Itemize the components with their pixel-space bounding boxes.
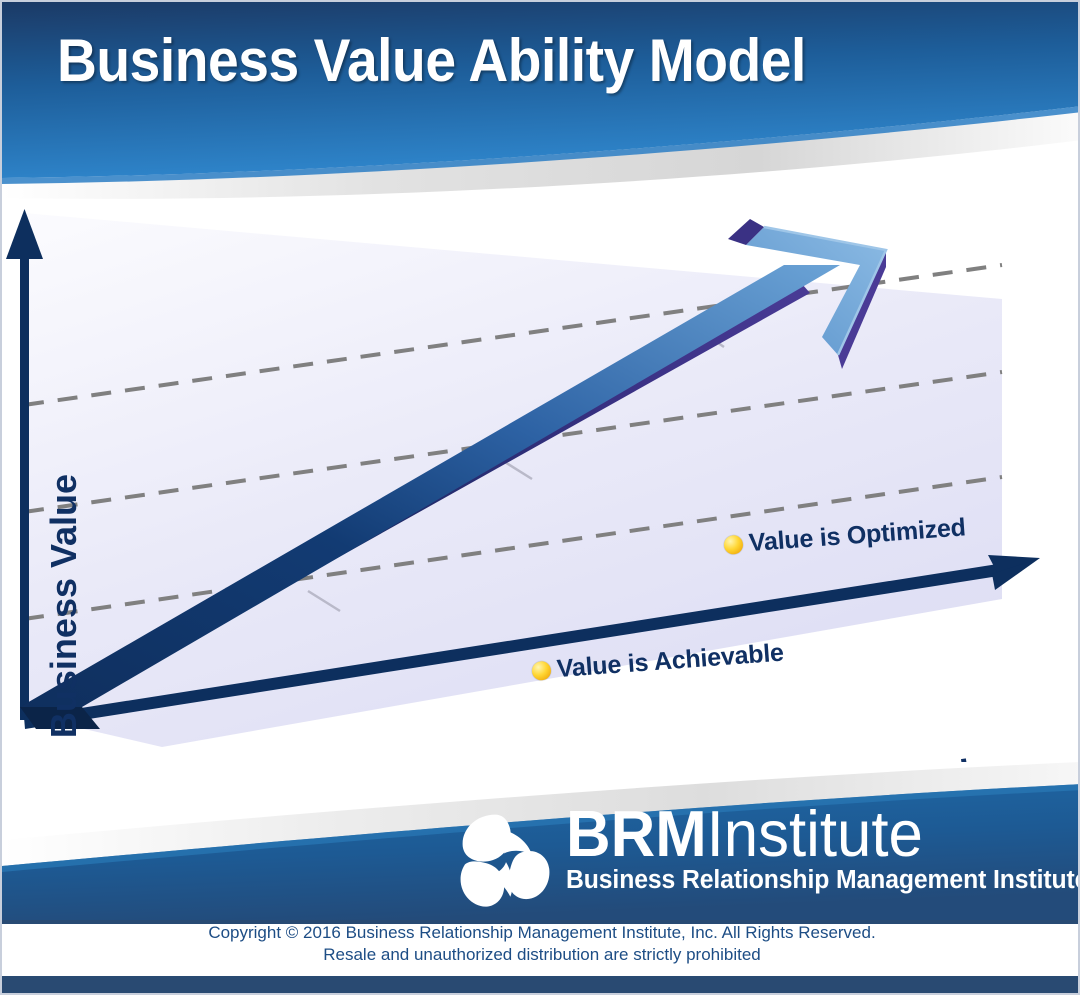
logo-institute-text: Institute xyxy=(707,797,923,870)
copyright-block: Copyright © 2016 Business Relationship M… xyxy=(2,922,1080,967)
logo-main-line: BRMInstitute® xyxy=(566,804,1078,864)
bullet-icon xyxy=(723,535,743,555)
copyright-line-1: Copyright © 2016 Business Relationship M… xyxy=(2,922,1080,944)
logo-brm-text: BRM xyxy=(566,797,707,870)
chart-area: Business Value Business Potential Value … xyxy=(2,187,1080,787)
bullet-icon xyxy=(531,661,551,681)
bottom-accent-bar xyxy=(2,976,1080,993)
page-title: Business Value Ability Model xyxy=(57,26,806,95)
copyright-line-2: Resale and unauthorized distribution are… xyxy=(2,944,1080,966)
logo-wordmark: BRMInstitute® Business Relationship Mana… xyxy=(566,804,1080,895)
y-axis-label: Business Value xyxy=(43,456,85,756)
header-banner: Business Value Ability Model xyxy=(2,2,1080,212)
logo-tagline: Business Relationship Management Institu… xyxy=(566,866,1080,895)
chart-graphic xyxy=(2,187,1080,787)
brm-pinwheel-logo-icon xyxy=(452,806,560,914)
poster-canvas: Business Value Ability Model xyxy=(0,0,1080,995)
brm-institute-logo: BRMInstitute® Business Relationship Mana… xyxy=(452,804,1080,914)
